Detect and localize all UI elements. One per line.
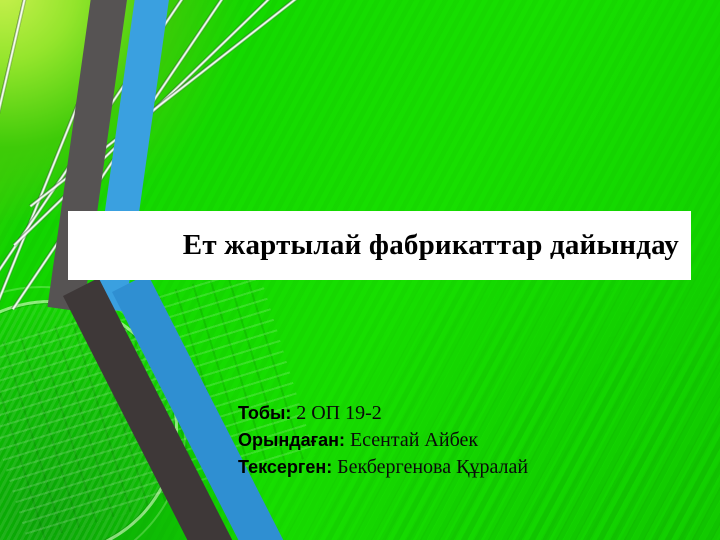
credit-label-group: Тобы: — [238, 403, 291, 423]
credit-label-reviewer: Тексерген: — [238, 457, 332, 477]
credit-value-reviewer: Бекбергенова Құралай — [337, 456, 528, 478]
credit-value-author: Есентай Айбек — [350, 429, 478, 451]
bottom-right-shading — [260, 240, 720, 540]
credit-line-author: Орындаған: Есентай Айбек — [238, 427, 698, 454]
credit-line-group: Тобы: 2 ОП 19-2 — [238, 400, 698, 427]
credit-line-reviewer: Тексерген: Бекбергенова Құралай — [238, 454, 698, 481]
credit-label-author: Орындаған: — [238, 430, 345, 450]
presentation-slide: Ет жартылай фабрикаттар дайындау Тобы: 2… — [0, 0, 720, 540]
credit-value-group: 2 ОП 19-2 — [296, 402, 382, 424]
title-plate: Ет жартылай фабрикаттар дайындау — [68, 211, 691, 280]
page-title: Ет жартылай фабрикаттар дайындау — [183, 230, 679, 260]
credits-block: Тобы: 2 ОП 19-2 Орындаған: Есентай Айбек… — [238, 400, 698, 481]
